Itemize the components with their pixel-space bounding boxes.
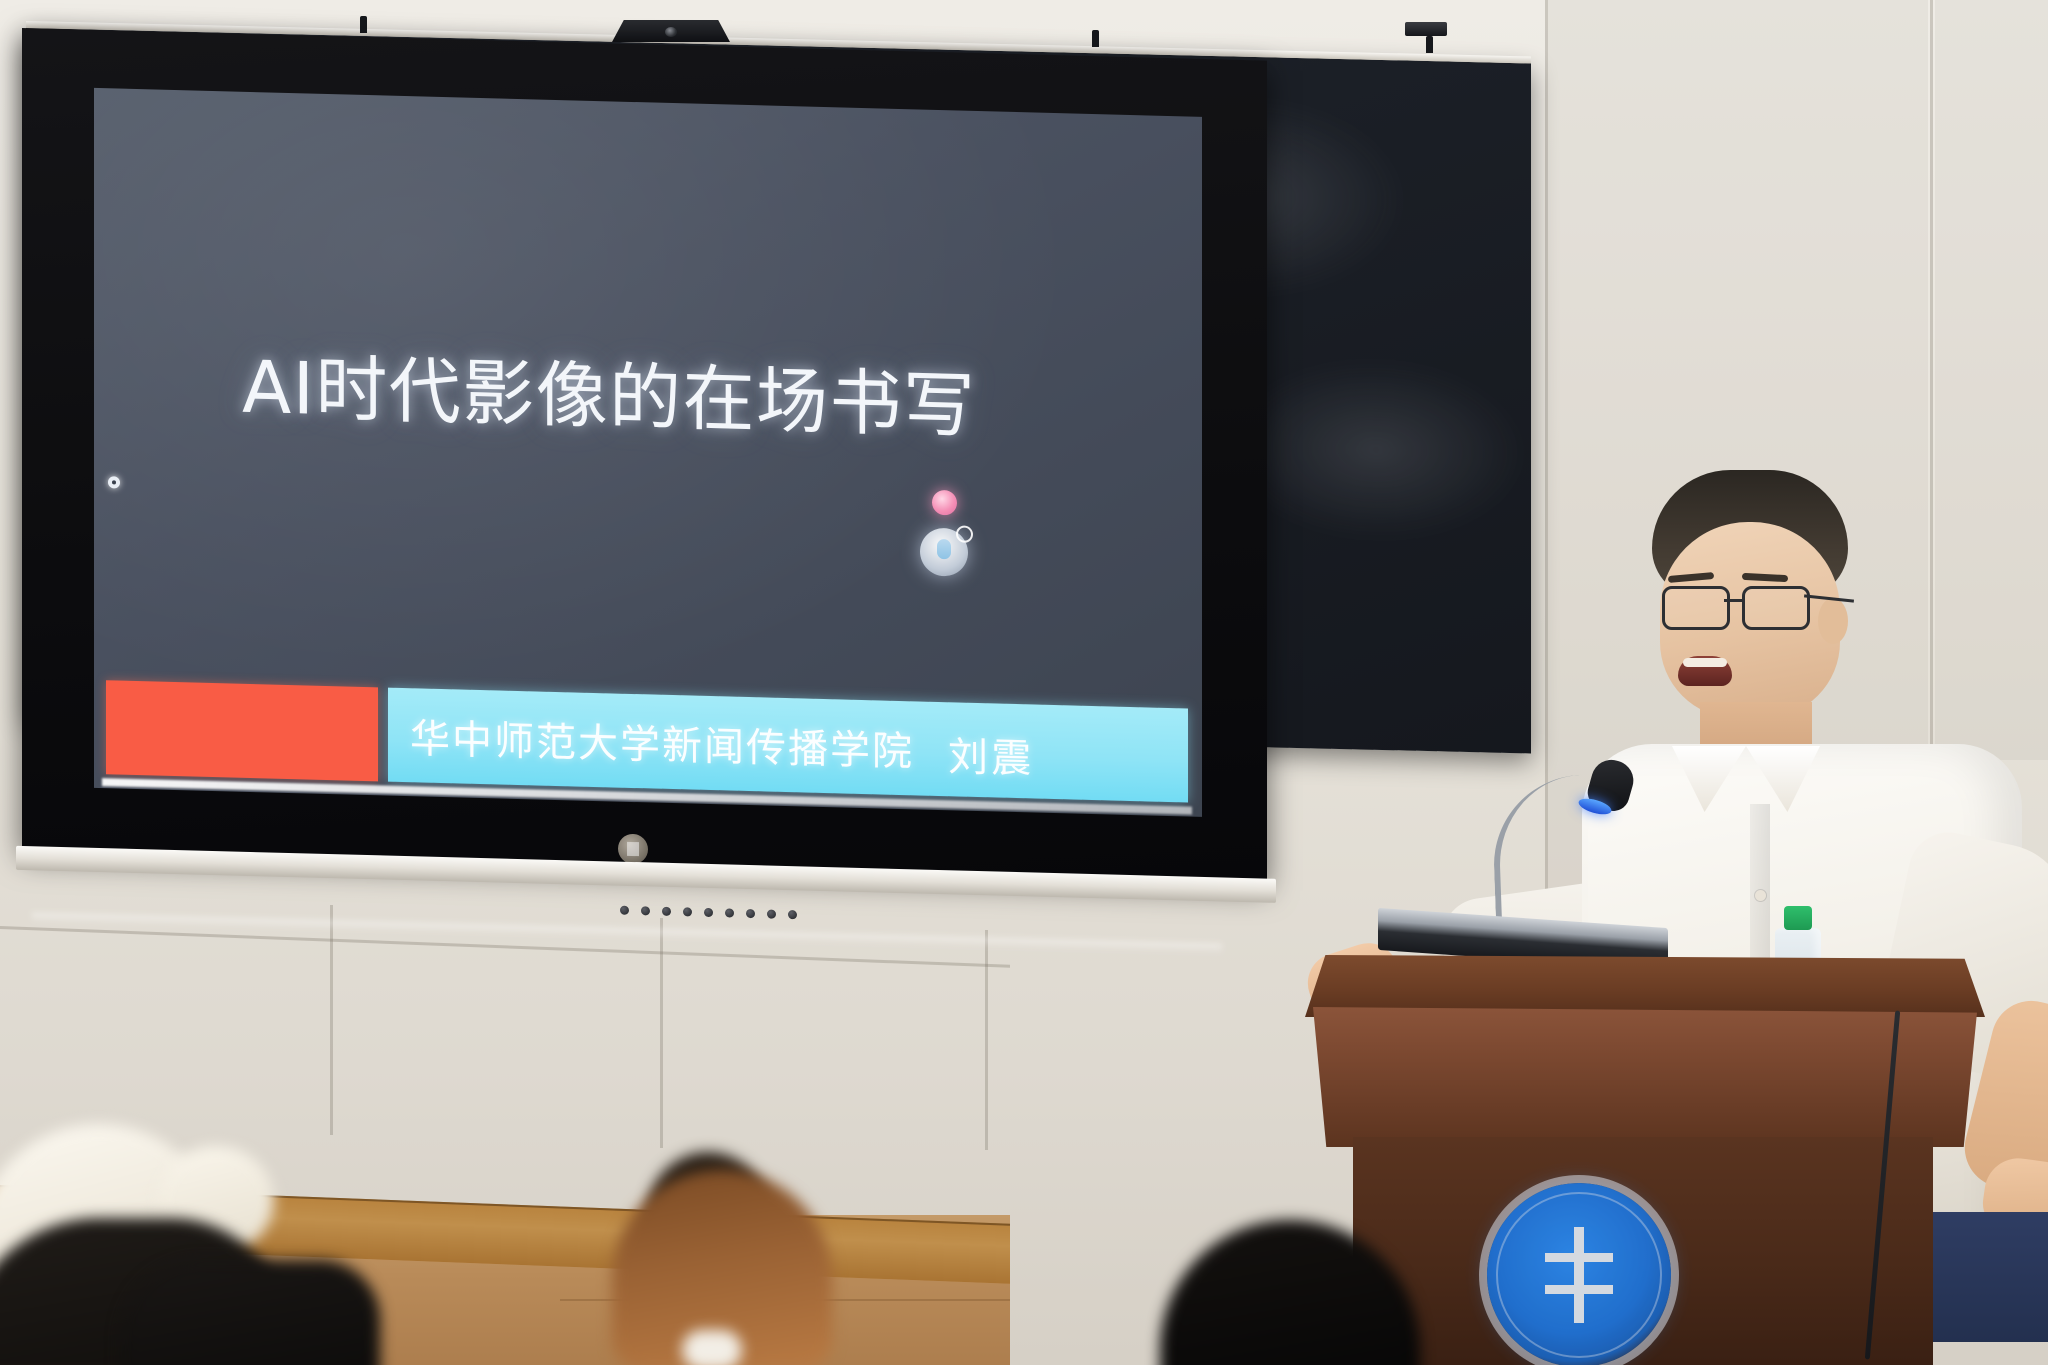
footer-speaker-name: 刘震 xyxy=(948,724,1034,784)
footer-band: 华中师范大学新闻传播学院 刘震 xyxy=(388,688,1188,803)
mic-hook-icon xyxy=(956,525,973,542)
presenter-mouth xyxy=(1678,656,1732,686)
eyeglasses-icon xyxy=(1656,586,1846,626)
lecture-hall-photo: AI时代影像的在场书写 华中师范大学新闻传播学院 刘震 xyxy=(0,0,2048,1365)
wall-seam xyxy=(330,905,333,1135)
podium-front-face xyxy=(1313,1007,1977,1147)
university-emblem-icon xyxy=(1487,1183,1671,1365)
presenter-teeth xyxy=(1683,658,1727,667)
glasses-lens xyxy=(1662,586,1730,630)
display-brand-logo-icon xyxy=(618,834,648,865)
microphone-button[interactable] xyxy=(920,528,968,577)
chalk-smudge xyxy=(1226,356,1526,543)
ceiling-camera-icon xyxy=(612,20,730,42)
blackboard-clip xyxy=(360,16,367,33)
display-button[interactable] xyxy=(620,906,629,915)
wall-seam xyxy=(660,918,663,1148)
display-button[interactable] xyxy=(767,910,776,919)
smart-display[interactable]: AI时代影像的在场书写 华中师范大学新闻传播学院 刘震 xyxy=(22,28,1267,931)
presentation-slide[interactable]: AI时代影像的在场书写 华中师范大学新闻传播学院 刘震 xyxy=(94,88,1202,817)
shirt-button xyxy=(1755,890,1766,901)
glasses-lens xyxy=(1742,586,1810,630)
bottle-cap xyxy=(1784,906,1812,930)
blackboard-clip xyxy=(1092,30,1099,47)
footer-organization: 华中师范大学新闻传播学院 xyxy=(410,706,914,777)
display-button[interactable] xyxy=(725,908,734,917)
footer-accent-block xyxy=(106,680,378,781)
status-dot-icon xyxy=(108,476,120,488)
microphone-icon xyxy=(937,539,951,559)
emblem-mark xyxy=(1545,1227,1613,1323)
audience-shoulder xyxy=(120,1260,380,1365)
display-button[interactable] xyxy=(788,910,797,919)
display-button[interactable] xyxy=(683,907,692,916)
recording-indicator-icon xyxy=(932,490,957,516)
slide-title: AI时代影像的在场书写 xyxy=(242,328,976,452)
glasses-temple-arm xyxy=(1804,594,1854,602)
display-button[interactable] xyxy=(662,907,671,916)
audience-hair-tie xyxy=(682,1330,742,1365)
camera-lens-icon xyxy=(665,27,677,37)
display-button[interactable] xyxy=(641,906,650,915)
display-button[interactable] xyxy=(704,908,713,917)
blackboard-clip xyxy=(1426,36,1433,53)
display-button[interactable] xyxy=(746,909,755,918)
podium-top-surface xyxy=(1305,955,1985,1017)
board-sensor-module xyxy=(1405,22,1447,36)
glasses-bridge xyxy=(1724,599,1744,602)
wall-seam xyxy=(985,930,988,1150)
